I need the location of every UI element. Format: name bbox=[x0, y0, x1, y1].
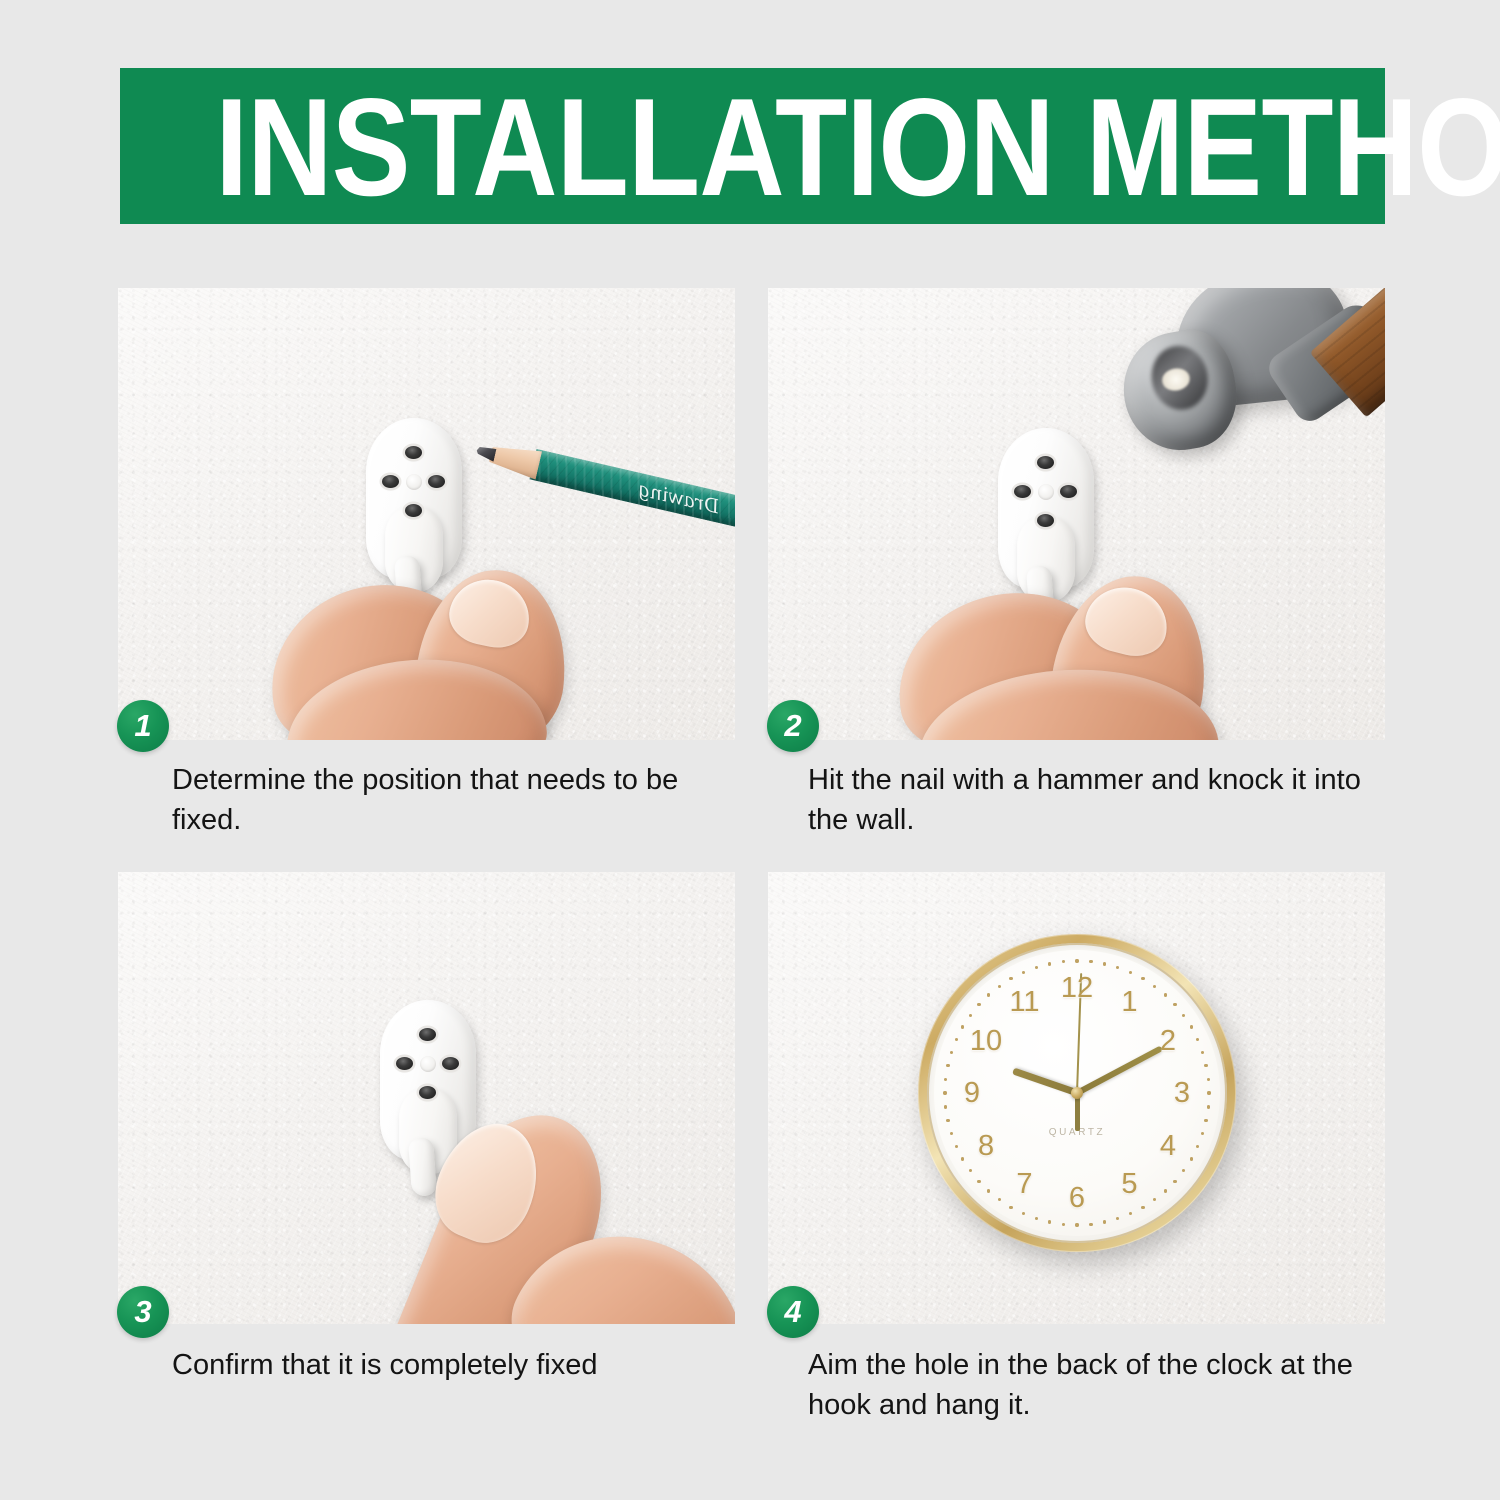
clock-numeral-9: 9 bbox=[949, 1076, 995, 1110]
step-2-photo bbox=[768, 288, 1385, 740]
clock-center-cap bbox=[1071, 1087, 1083, 1099]
clock-minute-dot bbox=[1153, 1198, 1156, 1201]
step-badge-4: 4 bbox=[767, 1286, 819, 1338]
clock-minute-dot bbox=[1141, 1206, 1144, 1209]
clock-minute-dot bbox=[955, 1038, 958, 1041]
nail-hole-right bbox=[1060, 485, 1077, 498]
clock-numeral-6: 6 bbox=[1054, 1181, 1100, 1215]
clock-minute-dot bbox=[1022, 971, 1025, 974]
step-badge-2: 2 bbox=[767, 700, 819, 752]
wall-clock: QUARTZ 123456789101112 bbox=[918, 934, 1236, 1252]
nail-hole-top bbox=[405, 446, 422, 459]
nail-hole-top bbox=[419, 1028, 436, 1041]
wall-hook bbox=[998, 428, 1094, 624]
page-title: INSTALLATION METHOD bbox=[215, 48, 1295, 248]
clock-minute-dot bbox=[950, 1051, 953, 1054]
clock-minute-dot bbox=[969, 1014, 972, 1017]
clock-minute-dot bbox=[1201, 1051, 1204, 1054]
clock-minute-dot bbox=[1141, 977, 1144, 980]
step-caption-4: Aim the hole in the back of the clock at… bbox=[808, 1345, 1388, 1425]
clock-numeral-1: 1 bbox=[1107, 985, 1153, 1019]
clock-minute-dot bbox=[1022, 1212, 1025, 1215]
clock-minute-dot bbox=[1103, 962, 1106, 965]
clock-numeral-7: 7 bbox=[1002, 1167, 1048, 1201]
step-caption-3: Confirm that it is completely fixed bbox=[172, 1345, 712, 1385]
clock-numeral-2: 2 bbox=[1145, 1024, 1191, 1058]
hook-center-bump bbox=[406, 474, 422, 490]
clock-minute-dot bbox=[987, 1189, 990, 1192]
clock-minute-dot bbox=[944, 1105, 947, 1108]
clock-minute-dot bbox=[1196, 1145, 1199, 1148]
clock-minute-dot bbox=[969, 1169, 972, 1172]
clock-numeral-4: 4 bbox=[1145, 1129, 1191, 1163]
clock-hour-hand bbox=[1012, 1068, 1079, 1097]
clock-minute-dot bbox=[1204, 1119, 1207, 1122]
step-badge-1: 1 bbox=[117, 700, 169, 752]
clock-minute-dot bbox=[1153, 985, 1156, 988]
step-1-photo: Drawing A bbox=[118, 288, 735, 740]
wall-hook bbox=[366, 418, 462, 614]
step-3-photo bbox=[118, 872, 735, 1324]
step-caption-1: Determine the position that needs to be … bbox=[172, 760, 712, 840]
clock-face: QUARTZ 123456789101112 bbox=[934, 950, 1220, 1236]
clock-numeral-11: 11 bbox=[1002, 985, 1048, 1019]
clock-minute-dot bbox=[1062, 960, 1065, 963]
clock-numeral-8: 8 bbox=[963, 1129, 1009, 1163]
wall-hook bbox=[380, 1000, 476, 1196]
clock-minute-dot bbox=[1009, 977, 1012, 980]
clock-minute-dot bbox=[1035, 966, 1038, 969]
nail-hole-left bbox=[382, 475, 399, 488]
clock-minute-dot bbox=[1207, 1105, 1210, 1108]
nail-hole-bottom bbox=[419, 1086, 436, 1099]
clock-minute-dot bbox=[1116, 1217, 1119, 1220]
clock-minute-dot bbox=[1048, 962, 1051, 965]
hook-prong bbox=[394, 555, 423, 615]
clock-minute-dot bbox=[955, 1145, 958, 1148]
clock-minute-dot bbox=[1173, 1003, 1176, 1006]
nail-hole-top bbox=[1037, 456, 1054, 469]
clock-minute-dot bbox=[946, 1119, 949, 1122]
clock-minute-dot bbox=[944, 1078, 947, 1081]
clock-minute-dot bbox=[1207, 1078, 1210, 1081]
clock-minute-dot bbox=[1182, 1169, 1185, 1172]
hook-prong bbox=[408, 1137, 437, 1197]
clock-minute-dot bbox=[1129, 1212, 1132, 1215]
clock-minute-dot bbox=[943, 1091, 946, 1094]
clock-minute-dot bbox=[1075, 1223, 1078, 1226]
clock-minute-dot bbox=[1196, 1038, 1199, 1041]
nail-hole-bottom bbox=[405, 504, 422, 517]
nail-hole-bottom bbox=[1037, 514, 1054, 527]
clock-numeral-12: 12 bbox=[1054, 971, 1100, 1005]
clock-minute-dot bbox=[1103, 1220, 1106, 1223]
clock-minute-dot bbox=[1173, 1180, 1176, 1183]
nail-hole-left bbox=[1014, 485, 1031, 498]
clock-minute-dot bbox=[1116, 966, 1119, 969]
nail-hole-right bbox=[442, 1057, 459, 1070]
clock-minute-dot bbox=[1089, 1223, 1092, 1226]
clock-minute-dot bbox=[1207, 1091, 1210, 1094]
clock-minute-dot bbox=[1164, 1189, 1167, 1192]
nail-hole-right bbox=[428, 475, 445, 488]
clock-minute-dot bbox=[977, 1003, 980, 1006]
step-badge-3: 3 bbox=[117, 1286, 169, 1338]
nail-hole-left bbox=[396, 1057, 413, 1070]
clock-minute-dot bbox=[946, 1064, 949, 1067]
step-caption-2: Hit the nail with a hammer and knock it … bbox=[808, 760, 1388, 840]
clock-minute-dot bbox=[1035, 1217, 1038, 1220]
clock-numeral-3: 3 bbox=[1159, 1076, 1205, 1110]
clock-minute-dot bbox=[1009, 1206, 1012, 1209]
clock-minute-dot bbox=[1075, 959, 1078, 962]
hook-prong bbox=[1026, 565, 1055, 625]
clock-minute-dot bbox=[987, 993, 990, 996]
hook-center-bump bbox=[420, 1056, 436, 1072]
clock-minute-dot bbox=[1182, 1014, 1185, 1017]
clock-minute-dot bbox=[1048, 1220, 1051, 1223]
clock-minute-dot bbox=[977, 1180, 980, 1183]
clock-minute-dot bbox=[1129, 971, 1132, 974]
clock-minute-dot bbox=[1062, 1223, 1065, 1226]
clock-minute-dot bbox=[1204, 1064, 1207, 1067]
clock-numeral-5: 5 bbox=[1107, 1167, 1153, 1201]
clock-numeral-10: 10 bbox=[963, 1024, 1009, 1058]
clock-minute-dot bbox=[1164, 993, 1167, 996]
step-4-photo: QUARTZ 123456789101112 bbox=[768, 872, 1385, 1324]
hook-center-bump bbox=[1038, 484, 1054, 500]
clock-minute-dot bbox=[1089, 960, 1092, 963]
